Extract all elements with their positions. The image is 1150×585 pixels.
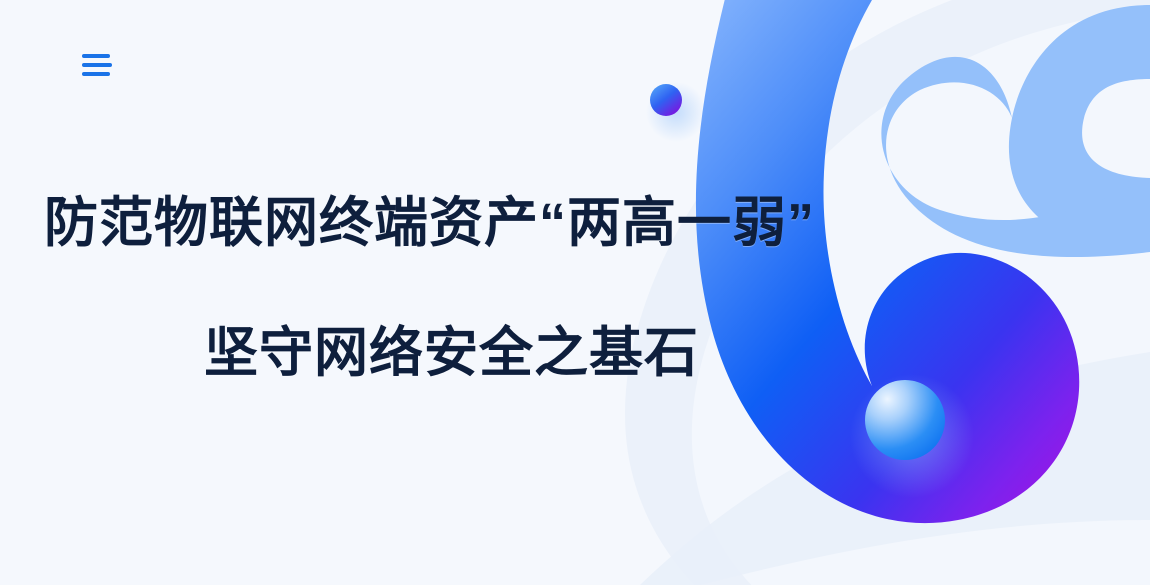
page-title: 防范物联网终端资产“两高一弱” 坚守网络安全之基石 (0, 186, 900, 390)
slide-cover: 防范物联网终端资产“两高一弱” 坚守网络安全之基石 (0, 0, 1150, 585)
menu-bar-bottom (82, 72, 110, 76)
hamburger-menu-icon[interactable] (82, 50, 116, 80)
menu-bar-top (82, 54, 110, 58)
menu-bar-middle (82, 63, 112, 67)
title-line-primary: 防范物联网终端资产“两高一弱” (0, 186, 900, 260)
title-line-secondary: 坚守网络安全之基石 (0, 316, 900, 390)
